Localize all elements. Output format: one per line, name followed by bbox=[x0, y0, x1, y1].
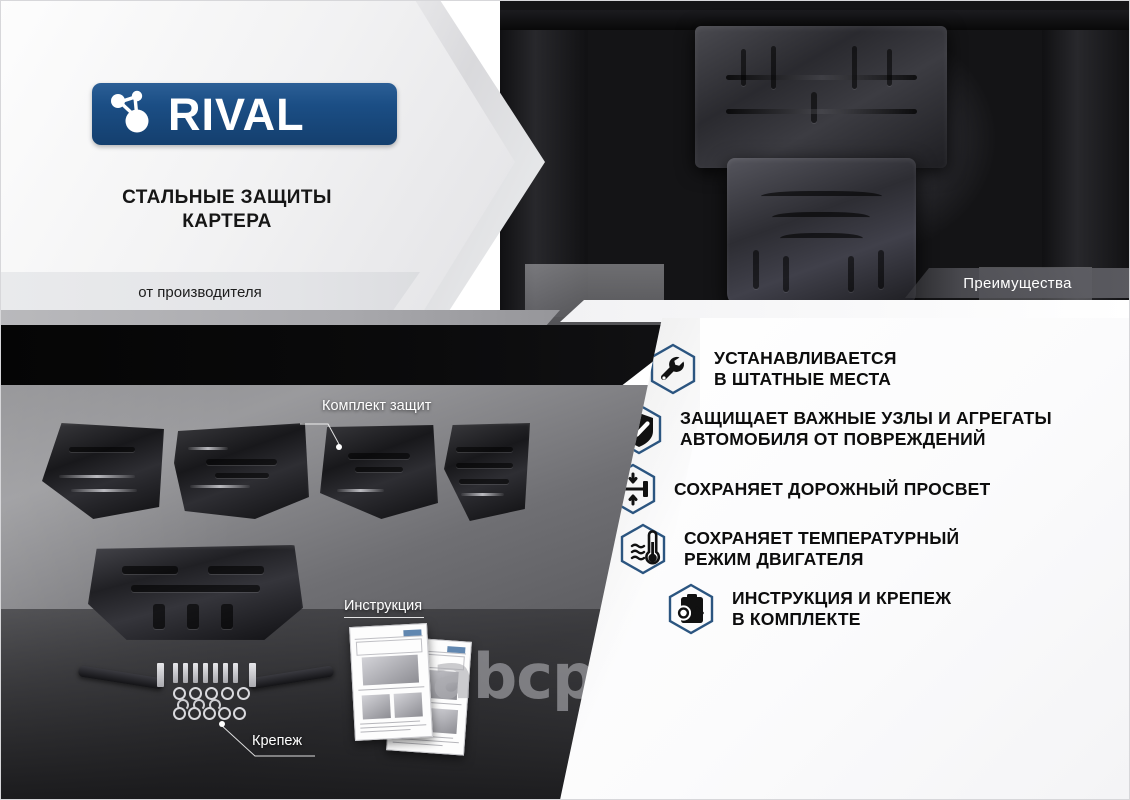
advantages-banner: Преимущества bbox=[905, 268, 1130, 298]
benefit-item-clearance: СОХРАНЯЕТ ДОРОЖНЫЙ ПРОСВЕТ bbox=[606, 462, 1112, 516]
label-kit-text: Комплект защит bbox=[322, 398, 431, 414]
skid-plate-main bbox=[88, 545, 303, 640]
label-hardware-text: Крепеж bbox=[252, 733, 302, 749]
benefit-line1: ЗАЩИЩАЕТ ВАЖНЫЕ УЗЛЫ И АГРЕГАТЫ bbox=[680, 408, 1052, 429]
benefit-item-protection: ЗАЩИЩАЕТ ВАЖНЫЕ УЗЛЫ И АГРЕГАТЫ АВТОМОБИ… bbox=[612, 402, 1112, 456]
photo-plate-upper bbox=[695, 26, 947, 168]
benefit-line2: АВТОМОБИЛЯ ОТ ПОВРЕЖДЕНИЙ bbox=[680, 429, 1052, 450]
rival-logo: RIVAL bbox=[92, 83, 397, 145]
benefit-line1: УСТАНАВЛИВАЕТСЯ bbox=[714, 348, 897, 369]
gray-divider-strip bbox=[0, 310, 560, 327]
dark-divider-band bbox=[0, 325, 700, 387]
instruction-sheets bbox=[352, 625, 482, 765]
poster-root: Преимущества RIVAL СТАЛЬНЫЕ ЗАЩИТЫ КАРТЕ… bbox=[0, 0, 1130, 800]
molecule-icon bbox=[104, 88, 166, 140]
benefit-text-temperature: СОХРАНЯЕТ ТЕМПЕРАТУРНЫЙ РЕЖИМ ДВИГАТЕЛЯ bbox=[684, 528, 959, 570]
benefit-text-kit-included: ИНСТРУКЦИЯ И КРЕПЕЖ В КОМПЛЕКТЕ bbox=[732, 588, 951, 630]
benefit-line1: СОХРАНЯЕТ ТЕМПЕРАТУРНЫЙ bbox=[684, 528, 959, 549]
label-kit: Комплект защит bbox=[322, 398, 431, 414]
benefits-list: УСТАНАВЛИВАЕТСЯ В ШТАТНЫЕ МЕСТА ЗАЩИЩАЕТ… bbox=[612, 342, 1112, 642]
label-manual: Инструкция bbox=[344, 598, 424, 618]
benefit-line1: СОХРАНЯЕТ ДОРОЖНЫЙ ПРОСВЕТ bbox=[674, 479, 990, 500]
label-hardware: Крепеж bbox=[252, 733, 302, 749]
benefit-text-installation: УСТАНАВЛИВАЕТСЯ В ШТАТНЫЕ МЕСТА bbox=[714, 348, 897, 390]
skid-plate-1 bbox=[42, 423, 164, 523]
hardware-kit bbox=[155, 663, 265, 715]
page-title-line1: СТАЛЬНЫЕ ЗАЩИТЫ bbox=[42, 186, 412, 210]
advantages-banner-label: Преимущества bbox=[963, 275, 1071, 292]
showcase-floor bbox=[0, 609, 660, 800]
skid-plate-4 bbox=[444, 423, 530, 523]
label-manual-text: Инструкция bbox=[344, 598, 422, 614]
benefit-text-clearance: СОХРАНЯЕТ ДОРОЖНЫЙ ПРОСВЕТ bbox=[674, 479, 990, 500]
instruction-sheet-front bbox=[349, 623, 433, 741]
skid-plate-2 bbox=[174, 423, 309, 523]
logo-wordmark: RIVAL bbox=[168, 92, 305, 137]
benefit-text-protection: ЗАЩИЩАЕТ ВАЖНЫЕ УЗЛЫ И АГРЕГАТЫ АВТОМОБИ… bbox=[680, 408, 1052, 450]
benefit-item-temperature: СОХРАНЯЕТ ТЕМПЕРАТУРНЫЙ РЕЖИМ ДВИГАТЕЛЯ bbox=[616, 522, 1112, 576]
skid-plate-row bbox=[32, 423, 502, 533]
photo-plate-lower bbox=[727, 158, 916, 307]
page-title: СТАЛЬНЫЕ ЗАЩИТЫ КАРТЕРА bbox=[42, 186, 412, 235]
benefit-item-kit-included: ИНСТРУКЦИЯ И КРЕПЕЖ В КОМПЛЕКТЕ bbox=[664, 582, 1112, 636]
clipboard-bolt-icon bbox=[664, 582, 718, 636]
subtitle: от производителя bbox=[0, 272, 400, 312]
benefit-line1: ИНСТРУКЦИЯ И КРЕПЕЖ bbox=[732, 588, 951, 609]
benefit-line2: В ШТАТНЫЕ МЕСТА bbox=[714, 369, 897, 390]
benefit-line2: В КОМПЛЕКТЕ bbox=[732, 609, 951, 630]
page-title-line2: КАРТЕРА bbox=[42, 210, 412, 234]
benefit-line2: РЕЖИМ ДВИГАТЕЛЯ bbox=[684, 549, 959, 570]
thermometer-icon bbox=[616, 522, 670, 576]
benefit-item-installation: УСТАНАВЛИВАЕТСЯ В ШТАТНЫЕ МЕСТА bbox=[646, 342, 1112, 396]
